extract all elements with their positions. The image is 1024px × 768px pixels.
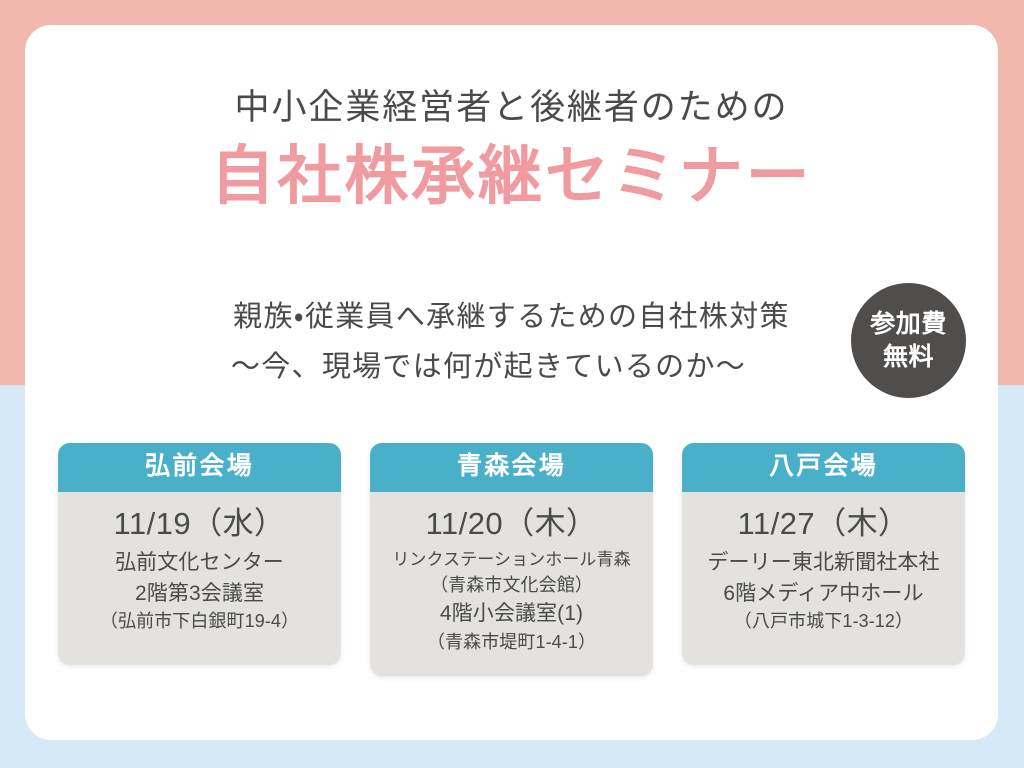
venue-details: 11/27（木） デーリー東北新聞社本社 6階メディア中ホール （八戸市城下1-…: [682, 492, 965, 666]
venue-address-line-1: デーリー東北新聞社本社: [692, 548, 955, 578]
venue-address-lines: デーリー東北新聞社本社 6階メディア中ホール （八戸市城下1-3-12）: [692, 548, 955, 635]
venue-card-aomori: 青森会場 11/20（木） リンクステーションホール青森 （青森市文化会館） 4…: [370, 443, 653, 676]
venue-address-line-1: リンクステーションホール青森: [380, 548, 643, 572]
venue-list: 弘前会場 11/19（水） 弘前文化センター 2階第3会議室 （弘前市下白銀町1…: [58, 443, 965, 676]
venue-date: 11/27（木）: [692, 504, 955, 544]
venue-date: 11/20（木）: [380, 504, 643, 544]
page-title: 自社株承継セミナー: [25, 137, 998, 215]
venue-address-line-2: （青森市文化会館）: [380, 573, 643, 599]
fee-badge-label: 参加費: [870, 308, 947, 341]
venue-address-line-3: 4階小会議室(1): [380, 599, 643, 629]
venue-address-line-3: （八戸市城下1-3-12）: [692, 609, 955, 635]
venue-address-line-3: （弘前市下白銀町19-4）: [68, 609, 331, 635]
venue-details: 11/19（水） 弘前文化センター 2階第3会議室 （弘前市下白銀町19-4）: [58, 492, 341, 666]
venue-card-hachinohe: 八戸会場 11/27（木） デーリー東北新聞社本社 6階メディア中ホール （八戸…: [682, 443, 965, 665]
venue-address-lines: 弘前文化センター 2階第3会議室 （弘前市下白銀町19-4）: [68, 548, 331, 635]
venue-name: 弘前会場: [58, 443, 341, 492]
venue-address-line-2: 6階メディア中ホール: [692, 579, 955, 609]
venue-details: 11/20（木） リンクステーションホール青森 （青森市文化会館） 4階小会議室…: [370, 492, 653, 676]
eyebrow-text: 中小企業経営者と後継者のための: [25, 85, 998, 131]
fee-badge: 参加費 無料: [851, 283, 966, 398]
venue-name: 八戸会場: [682, 443, 965, 492]
seminar-poster: 中小企業経営者と後継者のための 自社株承継セミナー 親族・従業員へ承継するための…: [0, 0, 1024, 768]
headline-block: 中小企業経営者と後継者のための 自社株承継セミナー: [25, 85, 998, 215]
fee-badge-value: 無料: [883, 341, 934, 374]
venue-address-lines: リンクステーションホール青森 （青森市文化会館） 4階小会議室(1) （青森市堤…: [380, 548, 643, 656]
poster-content-card: 中小企業経営者と後継者のための 自社株承継セミナー 親族・従業員へ承継するための…: [25, 25, 998, 740]
venue-address-line-4: （青森市堤町1-4-1）: [380, 630, 643, 656]
venue-address-line-1: 弘前文化センター: [68, 548, 331, 578]
venue-date: 11/19（水）: [68, 504, 331, 544]
venue-card-hirosaki: 弘前会場 11/19（水） 弘前文化センター 2階第3会議室 （弘前市下白銀町1…: [58, 443, 341, 665]
venue-name: 青森会場: [370, 443, 653, 492]
venue-address-line-2: 2階第3会議室: [68, 579, 331, 609]
